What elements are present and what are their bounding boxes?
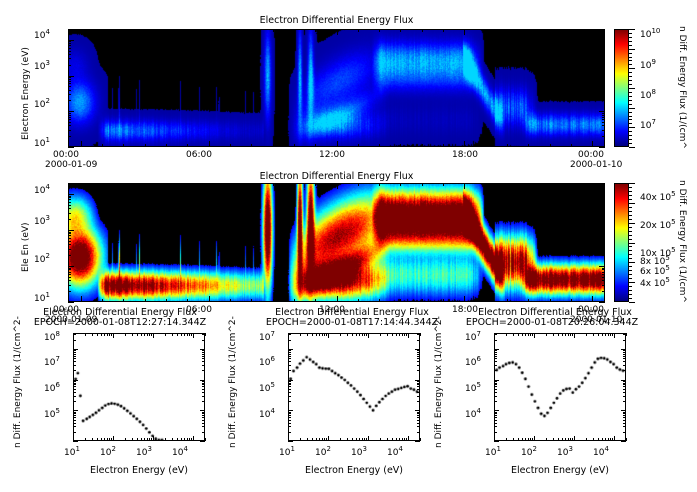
- tick-mark: [399, 333, 400, 336]
- tick-mark: [319, 438, 320, 441]
- tick-mark: [73, 432, 76, 433]
- spectrum-3-ytick-6: 106: [465, 359, 481, 368]
- tick-mark: [602, 117, 605, 118]
- tick-mark: [153, 436, 154, 441]
- tick-mark: [572, 333, 573, 336]
- tick-mark: [324, 333, 325, 336]
- spectrum-3-xtick-2: 102: [521, 449, 537, 458]
- tick-mark: [312, 438, 313, 441]
- tick-mark: [288, 358, 291, 359]
- tick-mark: [623, 401, 626, 402]
- tick-mark: [187, 333, 188, 336]
- spectrum-1-xlabel: Electron Energy (eV): [73, 466, 205, 476]
- tick-mark: [623, 423, 626, 424]
- tick-mark: [209, 141, 210, 147]
- tick-mark: [200, 410, 205, 411]
- tick-mark: [629, 72, 632, 73]
- spectrum-1-ytick-5: 105: [44, 411, 60, 420]
- tick-mark: [68, 119, 71, 120]
- tick-mark: [73, 365, 76, 366]
- tick-mark: [417, 423, 420, 424]
- spectrum-3-ytick-7: 107: [465, 334, 481, 343]
- tick-mark: [420, 333, 421, 336]
- tick-mark: [123, 299, 124, 302]
- tick-mark: [392, 438, 393, 441]
- tick-mark: [494, 361, 497, 362]
- tick-mark: [629, 290, 632, 291]
- tick-mark: [623, 334, 626, 335]
- tick-mark: [623, 381, 626, 382]
- tick-mark: [602, 41, 605, 42]
- tick-mark: [109, 438, 110, 441]
- tick-mark: [202, 384, 205, 385]
- middle-ytick-3: 103: [34, 218, 50, 227]
- tick-mark: [629, 223, 635, 224]
- tick-mark: [400, 29, 401, 32]
- top-xtick-1: 06:00: [186, 151, 212, 160]
- tick-mark: [602, 79, 605, 80]
- tick-mark: [602, 280, 605, 281]
- tick-mark: [166, 183, 167, 186]
- tick-mark: [574, 436, 575, 441]
- tick-mark: [602, 86, 605, 87]
- tick-mark: [494, 401, 497, 402]
- tick-mark: [340, 333, 341, 336]
- tick-mark: [356, 333, 357, 336]
- middle-ytick-4: 104: [34, 187, 50, 196]
- tick-mark: [294, 144, 295, 147]
- tick-mark: [380, 333, 381, 336]
- tick-mark: [602, 119, 605, 120]
- top-xtick-0: 00:00: [53, 151, 79, 160]
- spectrum-3-plot: [494, 333, 626, 441]
- tick-mark: [602, 130, 605, 131]
- tick-mark: [629, 88, 635, 89]
- tick-mark: [68, 241, 71, 242]
- tick-mark: [73, 415, 76, 416]
- tick-mark: [602, 438, 603, 441]
- tick-mark: [629, 231, 632, 232]
- tick-mark: [202, 389, 205, 390]
- tick-mark: [443, 144, 444, 147]
- tick-mark: [288, 334, 291, 335]
- tick-mark: [326, 438, 327, 441]
- tick-mark: [599, 40, 605, 41]
- tick-mark: [68, 58, 71, 59]
- tick-mark: [326, 333, 327, 336]
- tick-mark: [322, 438, 323, 441]
- tick-mark: [494, 370, 497, 371]
- tick-mark: [415, 380, 420, 381]
- tick-mark: [623, 415, 626, 416]
- tick-mark: [417, 365, 420, 366]
- tick-mark: [602, 238, 605, 239]
- tick-mark: [202, 370, 205, 371]
- tick-mark: [599, 230, 605, 231]
- spectrum-1-plot: [73, 333, 205, 441]
- tick-mark: [415, 349, 420, 350]
- middle-spectrogram-plot: [68, 183, 605, 302]
- tick-mark: [288, 383, 291, 384]
- tick-mark: [288, 423, 291, 424]
- tick-mark: [602, 196, 605, 197]
- tick-mark: [68, 199, 71, 200]
- tick-mark: [602, 241, 605, 242]
- tick-mark: [528, 29, 529, 32]
- tick-mark: [92, 333, 93, 336]
- tick-mark: [202, 417, 205, 418]
- tick-mark: [113, 436, 114, 441]
- tick-mark: [251, 144, 252, 147]
- tick-mark: [494, 352, 497, 353]
- tick-mark: [368, 436, 369, 441]
- tick-mark: [629, 282, 635, 283]
- tick-mark: [623, 432, 626, 433]
- tick-mark: [68, 83, 71, 84]
- tick-mark: [602, 197, 605, 198]
- tick-mark: [565, 438, 566, 441]
- tick-mark: [251, 299, 252, 302]
- tick-mark: [507, 183, 508, 186]
- tick-mark: [379, 29, 380, 32]
- tick-mark: [574, 333, 575, 338]
- spectrum-1-xtick-1: 101: [64, 449, 80, 458]
- tick-mark: [417, 361, 420, 362]
- tick-mark: [417, 358, 420, 359]
- middle-ylabel: Ele En (eV): [22, 222, 31, 272]
- tick-mark: [147, 438, 148, 441]
- tick-mark: [422, 144, 423, 147]
- tick-mark: [347, 333, 348, 336]
- tick-mark: [623, 354, 626, 355]
- tick-mark: [629, 215, 632, 216]
- tick-mark: [565, 333, 566, 336]
- tick-mark: [420, 438, 421, 441]
- tick-mark: [153, 333, 154, 338]
- tick-mark: [494, 426, 497, 427]
- tick-mark: [68, 208, 71, 209]
- tick-mark: [629, 33, 632, 34]
- tick-mark: [623, 389, 626, 390]
- tick-mark: [111, 333, 112, 336]
- top-spectrogram-plot: [68, 29, 605, 147]
- tick-mark: [570, 438, 571, 441]
- tick-mark: [366, 333, 367, 336]
- tick-mark: [629, 207, 632, 208]
- tick-mark: [629, 104, 632, 105]
- tick-mark: [104, 333, 105, 336]
- tick-mark: [621, 410, 626, 411]
- spectrum-3-xlabel: Electron Energy (eV): [494, 466, 626, 476]
- tick-mark: [68, 40, 74, 41]
- tick-mark: [340, 438, 341, 441]
- tick-mark: [464, 29, 465, 35]
- tick-mark: [417, 354, 420, 355]
- tick-mark: [273, 299, 274, 302]
- spectrum-3-xtick-4: 104: [593, 449, 609, 458]
- tick-mark: [230, 144, 231, 147]
- tick-mark: [73, 356, 76, 357]
- tick-mark: [184, 438, 185, 441]
- middle-cbar-tick-4: 4x 105: [640, 280, 670, 289]
- tick-mark: [200, 380, 205, 381]
- tick-mark: [101, 438, 102, 441]
- tick-mark: [73, 420, 76, 421]
- tick-mark: [288, 352, 291, 353]
- tick-mark: [68, 76, 74, 77]
- tick-mark: [356, 438, 357, 441]
- spectrum-1-ytick-6: 106: [44, 385, 60, 394]
- tick-mark: [380, 438, 381, 441]
- tick-mark: [629, 131, 632, 132]
- tick-mark: [602, 333, 603, 336]
- tick-mark: [68, 232, 71, 233]
- tick-mark: [102, 183, 103, 186]
- tick-mark: [402, 333, 403, 336]
- tick-mark: [494, 350, 497, 351]
- tick-mark: [629, 123, 632, 124]
- tick-mark: [364, 333, 365, 336]
- tick-mark: [177, 438, 178, 441]
- tick-mark: [145, 183, 146, 186]
- tick-mark: [614, 436, 615, 441]
- tick-mark: [68, 43, 71, 44]
- tick-mark: [205, 438, 206, 441]
- tick-mark: [288, 392, 291, 393]
- top-xtick-2: 12:00: [319, 151, 345, 160]
- spectrum-2-xtick-2: 102: [315, 449, 331, 458]
- tick-mark: [379, 183, 380, 186]
- tick-mark: [621, 380, 626, 381]
- tick-mark: [68, 302, 74, 303]
- tick-mark: [307, 333, 308, 336]
- tick-mark: [202, 356, 205, 357]
- tick-mark: [73, 412, 76, 413]
- tick-mark: [202, 381, 205, 382]
- tick-mark: [417, 413, 420, 414]
- tick-mark: [202, 420, 205, 421]
- tick-mark: [379, 144, 380, 147]
- tick-mark: [629, 116, 632, 117]
- tick-mark: [513, 438, 514, 441]
- tick-mark: [73, 386, 76, 387]
- tick-mark: [602, 268, 605, 269]
- tick-mark: [592, 141, 593, 147]
- tick-mark: [417, 384, 420, 385]
- tick-mark: [602, 77, 605, 78]
- tick-mark: [608, 333, 609, 336]
- tick-mark: [404, 438, 405, 441]
- tick-mark: [202, 412, 205, 413]
- tick-mark: [132, 333, 133, 336]
- tick-mark: [507, 29, 508, 32]
- tick-mark: [73, 352, 76, 353]
- tick-mark: [593, 333, 594, 336]
- spectrum-3-ytick-5: 105: [465, 385, 481, 394]
- tick-mark: [494, 365, 497, 366]
- tick-mark: [68, 86, 71, 87]
- tick-mark: [113, 333, 114, 338]
- tick-mark: [406, 438, 407, 441]
- top-panel-title: Electron Differential Energy Flux: [68, 16, 605, 26]
- tick-mark: [300, 333, 301, 336]
- tick-mark: [602, 202, 605, 203]
- tick-mark: [525, 333, 526, 336]
- tick-mark: [337, 296, 338, 302]
- tick-mark: [417, 392, 420, 393]
- tick-mark: [422, 29, 423, 32]
- tick-mark: [602, 249, 605, 250]
- tick-mark: [629, 278, 632, 279]
- tick-mark: [602, 94, 605, 95]
- tick-mark: [147, 333, 148, 336]
- tick-mark: [97, 333, 98, 336]
- tick-mark: [202, 383, 205, 384]
- tick-mark: [81, 29, 82, 35]
- tick-mark: [629, 37, 632, 38]
- spectrum-3-ylabel: n Diff. Energy Flux (1/(cm^2-: [435, 316, 444, 448]
- tick-mark: [605, 438, 606, 441]
- tick-mark: [288, 401, 291, 402]
- tick-mark: [251, 183, 252, 186]
- tick-mark: [528, 333, 529, 336]
- tick-mark: [629, 80, 632, 81]
- tick-mark: [202, 365, 205, 366]
- spectrum-2-ytick-6: 106: [259, 359, 275, 368]
- tick-mark: [629, 108, 635, 109]
- tick-mark: [230, 299, 231, 302]
- tick-mark: [417, 417, 420, 418]
- tick-mark: [68, 100, 71, 101]
- top-ytick-2: 102: [34, 101, 50, 110]
- tick-mark: [68, 29, 71, 30]
- tick-mark: [111, 438, 112, 441]
- spectrum-1-xtick-3: 103: [136, 449, 152, 458]
- tick-mark: [494, 423, 497, 424]
- top-colorbar-label: n Diff. Energy Flux (1/(cm^: [677, 26, 686, 149]
- tick-mark: [494, 340, 497, 341]
- tick-mark: [81, 296, 82, 302]
- tick-mark: [294, 29, 295, 32]
- tick-mark: [408, 333, 409, 338]
- tick-mark: [417, 401, 420, 402]
- tick-mark: [165, 438, 166, 441]
- tick-mark: [528, 438, 529, 441]
- tick-mark: [417, 383, 420, 384]
- spectrum-3-subtitle: EPOCH=2000-01-08T20:26:04.344Z: [452, 318, 652, 328]
- tick-mark: [104, 438, 105, 441]
- tick-mark: [202, 358, 205, 359]
- tick-mark: [68, 230, 74, 231]
- tick-mark: [358, 29, 359, 32]
- tick-mark: [322, 333, 323, 336]
- tick-mark: [599, 76, 605, 77]
- tick-mark: [68, 41, 71, 42]
- tick-mark: [202, 352, 205, 353]
- tick-mark: [518, 438, 519, 441]
- tick-mark: [316, 333, 317, 336]
- tick-mark: [102, 299, 103, 302]
- tick-mark: [68, 274, 71, 275]
- tick-mark: [629, 266, 632, 267]
- tick-mark: [107, 333, 108, 336]
- tick-mark: [144, 438, 145, 441]
- tick-mark: [172, 438, 173, 441]
- tick-mark: [366, 438, 367, 441]
- tick-mark: [288, 386, 291, 387]
- tick-mark: [359, 438, 360, 441]
- tick-mark: [337, 183, 338, 189]
- tick-mark: [189, 333, 190, 336]
- tick-mark: [85, 438, 86, 441]
- tick-mark: [202, 361, 205, 362]
- tick-mark: [550, 144, 551, 147]
- tick-mark: [422, 299, 423, 302]
- tick-mark: [629, 76, 632, 77]
- tick-mark: [592, 183, 593, 189]
- tick-mark: [288, 354, 291, 355]
- tick-mark: [125, 438, 126, 441]
- tick-mark: [507, 299, 508, 302]
- tick-mark: [73, 349, 78, 350]
- tick-mark: [629, 45, 632, 46]
- tick-mark: [602, 233, 605, 234]
- tick-mark: [629, 147, 635, 148]
- middle-cbar-tick-20: 20x 105: [640, 222, 676, 231]
- tick-mark: [602, 277, 605, 278]
- tick-mark: [202, 334, 205, 335]
- tick-mark: [288, 417, 291, 418]
- tick-mark: [294, 183, 295, 186]
- tick-mark: [205, 333, 206, 336]
- tick-mark: [288, 380, 293, 381]
- tick-mark: [602, 205, 605, 206]
- tick-mark: [602, 51, 605, 52]
- tick-mark: [494, 334, 497, 335]
- tick-mark: [629, 191, 632, 192]
- tick-mark: [102, 29, 103, 32]
- tick-mark: [68, 244, 71, 245]
- middle-ytick-2: 102: [34, 256, 50, 265]
- tick-mark: [629, 262, 635, 263]
- tick-mark: [629, 135, 632, 136]
- tick-mark: [494, 358, 497, 359]
- tick-mark: [571, 299, 572, 302]
- tick-mark: [73, 361, 76, 362]
- tick-mark: [123, 183, 124, 186]
- spectrum-1-ytick-8: 108: [44, 334, 60, 343]
- tick-mark: [92, 438, 93, 441]
- tick-mark: [68, 205, 71, 206]
- tick-mark: [68, 122, 71, 123]
- tick-mark: [494, 432, 497, 433]
- tick-mark: [568, 333, 569, 336]
- tick-mark: [300, 438, 301, 441]
- tick-mark: [494, 417, 497, 418]
- tick-mark: [68, 233, 71, 234]
- tick-mark: [602, 269, 605, 270]
- tick-mark: [202, 392, 205, 393]
- tick-mark: [599, 194, 605, 195]
- tick-mark: [288, 370, 291, 371]
- tick-mark: [85, 333, 86, 336]
- tick-mark: [623, 396, 626, 397]
- tick-mark: [623, 426, 626, 427]
- tick-mark: [494, 356, 497, 357]
- tick-mark: [562, 333, 563, 336]
- tick-mark: [629, 57, 632, 58]
- tick-mark: [68, 268, 71, 269]
